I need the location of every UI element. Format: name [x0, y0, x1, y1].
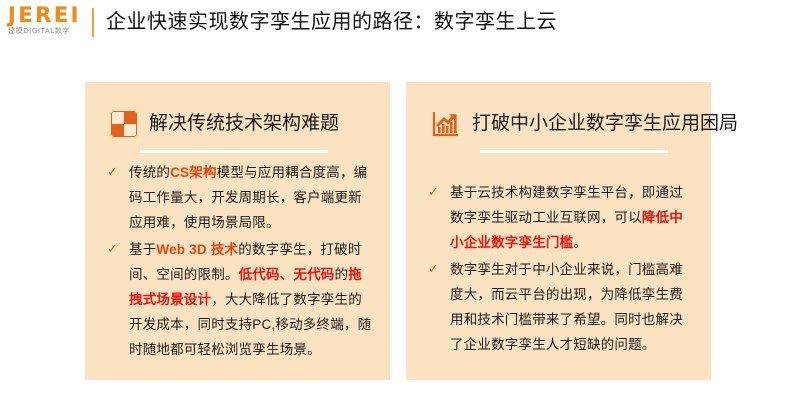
text-segment-highlight: CS架构	[170, 165, 217, 180]
card-header: 打破中小企业数字孪生应用困局	[406, 102, 711, 146]
card-solve-architecture: 解决传统技术架构难题 ✓ 传统的CS架构模型与应用耦合度高，编码工作量大，开发周…	[85, 82, 390, 380]
list-item: ✓ 基于Web 3D 技术的数字孪生，打破时间、空间的限制。低代码、无代码的拖拽…	[107, 237, 375, 362]
text-segment: 传统的	[129, 165, 170, 180]
brand-logo[interactable]: JEREI 建模DIGITAL数字	[8, 4, 88, 38]
card-bullet-list: ✓ 传统的CS架构模型与应用耦合度高，编码工作量大，开发周期长，客户端更新应用难…	[107, 160, 375, 364]
bullet-text: 数字孪生对于中小企业来说，门槛高难度大，而云平台的出现，为降低孪生费用和技术门槛…	[450, 257, 696, 357]
header-divider	[92, 8, 94, 37]
bullet-text: 基于Web 3D 技术的数字孪生，打破时间、空间的限制。低代码、无代码的拖拽式场…	[129, 237, 375, 362]
card-title-rule	[480, 150, 668, 153]
logo-wordmark: JEREI	[8, 4, 88, 26]
list-item: ✓ 传统的CS架构模型与应用耦合度高，编码工作量大，开发周期长，客户端更新应用难…	[107, 160, 375, 235]
bullet-text: 基于云技术构建数字孪生平台，即通过数字孪生驱动工业互联网，可以降低中小企业数字孪…	[450, 180, 696, 255]
logo-subtitle: 建模DIGITAL数字	[8, 27, 88, 36]
bullet-text: 传统的CS架构模型与应用耦合度高，编码工作量大，开发周期长，客户端更新应用难，使…	[129, 160, 375, 235]
check-icon: ✓	[428, 257, 450, 282]
bar-chart-growth-icon	[432, 110, 460, 138]
list-item: ✓ 数字孪生对于中小企业来说，门槛高难度大，而云平台的出现，为降低孪生费用和技术…	[428, 257, 696, 357]
text-segment-highlight: 低代码、无代码	[239, 267, 335, 282]
card-title: 打破中小企业数字孪生应用困局	[472, 110, 738, 138]
check-icon: ✓	[107, 160, 129, 185]
page-title: 企业快速实现数字孪生应用的路径：数字孪生上云	[106, 8, 557, 37]
check-icon: ✓	[107, 237, 129, 262]
card-bullet-list: ✓ 基于云技术构建数字孪生平台，即通过数字孪生驱动工业互联网，可以降低中小企业数…	[428, 180, 696, 359]
list-item: ✓ 基于云技术构建数字孪生平台，即通过数字孪生驱动工业互联网，可以降低中小企业数…	[428, 180, 696, 255]
content-cards: 解决传统技术架构难题 ✓ 传统的CS架构模型与应用耦合度高，编码工作量大，开发周…	[0, 82, 788, 380]
card-title: 解决传统技术架构难题	[149, 110, 339, 138]
page-header: JEREI 建模DIGITAL数字 企业快速实现数字孪生应用的路径：数字孪生上云	[0, 0, 788, 46]
text-segment: 基于	[129, 242, 156, 257]
card-title-rule	[140, 150, 328, 153]
text-segment: 的	[335, 267, 349, 282]
check-icon: ✓	[428, 180, 450, 205]
card-header: 解决传统技术架构难题	[85, 102, 390, 146]
text-segment: 数字孪生对于中小企业来说，门槛高难度大，而云平台的出现，为降低孪生费用和技术门槛…	[450, 262, 683, 352]
text-segment: 。	[573, 235, 587, 250]
checker-square-icon	[111, 111, 137, 137]
text-segment-highlight: Web 3D 技术	[156, 242, 238, 257]
card-break-sme-dilemma: 打破中小企业数字孪生应用困局 ✓ 基于云技术构建数字孪生平台，即通过数字孪生驱动…	[406, 82, 711, 380]
